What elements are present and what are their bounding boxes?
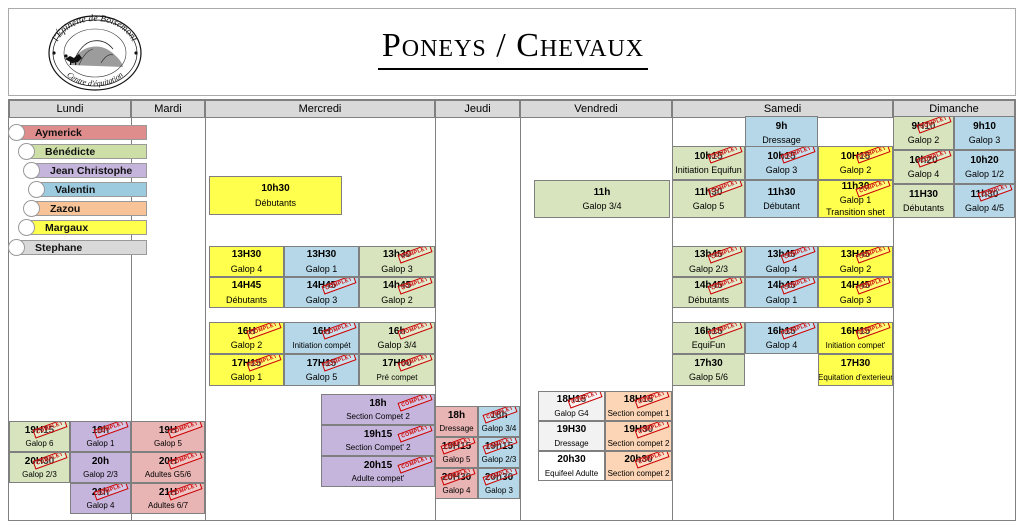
course-description: Galop 4 [86,501,114,510]
course-time: 14h45 [383,280,411,292]
day-header-jeudi: Jeudi [435,100,520,118]
course-description: Galop 3 [306,295,338,305]
course-description-2: Transition shet [826,207,885,217]
legend-item-label: Aymerick [35,127,82,139]
course-time: 14h45 [694,280,722,292]
complet-stamp: COMPLET [397,394,432,412]
course-cell[interactable]: 18H15Section compet 1COMPLET [605,391,672,421]
legend-item-0[interactable]: Aymerick [12,125,147,140]
course-description: Adulte compet' [352,474,405,483]
course-time: 18H15 [557,394,586,406]
course-time: 20h15 [364,460,392,472]
legend-bullet-icon-4 [23,200,40,217]
course-time: 20h [92,456,109,468]
legend-item-label: Valentin [55,184,95,196]
course-description: Galop 3/4 [582,201,621,211]
day-header-mardi: Mardi [131,100,205,118]
course-time: 9h10 [973,121,996,133]
column-separator [205,118,206,521]
course-time: 13h30 [383,249,411,261]
course-description: Initiation Equifun [675,165,742,175]
course-time: 11h30 [695,187,723,199]
page-header: l'Épinette de Boisemont Centre d'équitat… [8,8,1016,96]
course-time: 13h45 [767,249,795,261]
course-time: 10h20 [970,155,998,167]
course-cell[interactable]: 11h30Galop 1Transition shetCOMPLET [818,180,893,218]
day-header-mercredi: Mercredi [205,100,435,118]
course-time: 17H15 [307,358,336,370]
course-time: 21h [92,487,109,499]
course-description: Section Compet 2 [346,412,410,421]
course-cell[interactable]: 18H15Galop G4COMPLET [538,391,605,421]
course-cell[interactable]: 14H45Débutants [209,277,284,308]
course-cell[interactable]: 13H30Galop 4 [209,246,284,277]
day-header-vendredi: Vendredi [520,100,672,118]
course-time: 9H10 [912,121,936,133]
course-time: 19h15 [364,429,392,441]
course-time: 16H [312,326,330,338]
course-description: Galop 4 [766,340,798,350]
course-cell[interactable]: 11H30Débutants [893,184,954,218]
course-description: Galop 1 [766,295,798,305]
legend-item-label: Jean Christophe [50,165,132,177]
course-description: Galop 3 [969,135,1001,145]
course-time: 16h15 [767,326,795,338]
course-cell[interactable]: 10h15Initiation EquifunCOMPLET [672,146,745,180]
course-description: Galop 3 [485,486,513,495]
course-time: 16h15 [694,326,722,338]
course-description: Galop 1 [306,264,338,274]
course-cell[interactable]: 14H45Galop 3COMPLET [818,277,893,308]
course-time: 20H30 [442,472,471,484]
course-cell[interactable]: 14h45DébutantsCOMPLET [672,277,745,308]
course-description: Section compet 2 [608,439,670,448]
day-header-lundi: Lundi [9,100,131,118]
course-description: Débutants [255,198,296,208]
course-cell[interactable]: 13H45Galop 2COMPLET [818,246,893,277]
page-title-text: Poneys / Chevaux [378,27,648,70]
legend-bullet-icon-1 [18,143,35,160]
course-description: EquiFun [692,340,726,350]
legend-bullet-icon-0 [8,124,25,141]
course-description: Galop G4 [554,409,588,418]
day-header-label: Samedi [764,103,801,115]
column-separator [520,118,521,521]
course-cell[interactable]: 17H00Pré competCOMPLET [359,354,435,386]
course-time: 19H30 [557,424,586,436]
course-description: Galop 2/3 [482,455,517,464]
course-time: 18h [448,410,465,422]
course-time: 13h45 [694,249,722,261]
course-cell[interactable]: 10H15Galop 2COMPLET [818,146,893,180]
course-cell[interactable]: 10h20Galop 1/2 [954,150,1015,184]
course-time: 11H30 [909,189,938,201]
course-cell[interactable]: 16HGalop 2COMPLET [209,322,284,354]
course-description: Galop 3/4 [482,424,517,433]
course-cell[interactable]: 20h15Adulte compet'COMPLET [321,456,435,487]
course-cell[interactable]: 20h30Galop 3COMPLET [478,468,520,499]
course-time: 9h [776,121,788,133]
course-time: 20h30 [485,472,513,484]
course-description: Galop 4 [442,486,470,495]
course-time: 10h15 [694,151,722,163]
page-title: Poneys / Chevaux [9,27,1017,65]
course-description: Section Compet' 2 [345,443,410,452]
course-time: 19h [92,425,109,437]
course-time: 13H30 [232,249,261,261]
course-cell[interactable]: 18hGalop 3/4COMPLET [478,406,520,437]
legend-item-2[interactable]: Jean Christophe [27,163,147,178]
course-cell[interactable]: 9H10Galop 2COMPLET [893,116,954,150]
day-header-label: Mercredi [299,103,342,115]
course-description: Galop 6 [25,439,53,448]
course-description: Galop 1 [840,195,872,205]
course-time: 11h30 [768,187,796,199]
course-time: 18H15 [624,394,653,406]
course-cell[interactable]: 19h15Section Compet' 2COMPLET [321,425,435,456]
course-time: 21H [159,487,177,499]
course-time: 20h30 [557,454,585,466]
course-cell[interactable]: 9h10Galop 3 [954,116,1015,150]
day-header-label: Dimanche [929,103,979,115]
legend-item-3[interactable]: Valentin [32,182,147,197]
legend-item-4[interactable]: Zazou [27,201,147,216]
course-cell[interactable]: 16hGalop 3/4COMPLET [359,322,435,354]
course-description: Galop 5 [693,201,725,211]
course-description: Initiation compét [292,341,350,350]
day-header-label: Jeudi [464,103,490,115]
course-cell[interactable]: 18hDressage [435,406,478,437]
course-time: 17H15 [232,358,261,370]
course-description: Adultes 6/7 [148,501,188,510]
course-time: 13H45 [841,249,870,261]
course-time: 13H30 [307,249,336,261]
course-description: Galop 1 [86,439,114,448]
legend-bullet-icon-3 [28,181,45,198]
legend-item-label: Margaux [45,222,88,234]
course-cell[interactable]: 19HGalop 5COMPLET [131,421,205,452]
course-cell[interactable]: 17H30Equitation d'exterieur [818,354,893,386]
course-cell[interactable]: 11h30Débutant [745,180,818,218]
legend-item-label: Stephane [35,242,82,254]
course-time: 10h15 [767,151,795,163]
course-description: Adultes G5/6 [145,470,191,479]
course-description: Galop 2/3 [689,264,728,274]
course-time: 19H [159,425,177,437]
course-cell[interactable]: 19h15Galop 2/3COMPLET [478,437,520,468]
course-cell[interactable]: 16h15Galop 4COMPLET [745,322,818,354]
course-time: 18h [490,410,507,422]
course-description: Galop 1 [231,372,263,382]
course-description: Dressage [554,439,588,448]
course-cell[interactable]: 11hGalop 3/4 [534,180,670,218]
course-time: 16H [237,326,255,338]
course-time: 14H45 [232,280,261,292]
course-description: Galop 4/5 [965,203,1004,213]
course-cell[interactable]: 13h45Galop 4COMPLET [745,246,818,277]
course-cell[interactable]: 19H30Section compet 2COMPLET [605,421,672,451]
course-description: Galop 2 [381,295,413,305]
legend-item-label: Zazou [50,203,80,215]
course-description: Galop 4 [766,264,798,274]
course-time: 17H30 [841,358,870,370]
course-cell[interactable]: 20h30Equifeel Adulte [538,451,605,481]
course-cell[interactable]: 13h45Galop 2/3COMPLET [672,246,745,277]
course-description: Galop 2 [908,135,940,145]
course-description: Galop 5 [154,439,182,448]
legend-item-label: Bénédicte [45,146,95,158]
course-description: Débutant [763,201,800,211]
course-time: 11h30 [842,181,870,193]
course-cell[interactable]: 13h30Galop 3COMPLET [359,246,435,277]
day-header-label: Vendredi [574,103,617,115]
course-description: Equifeel Adulte [545,469,598,478]
course-cell[interactable]: 14h45Galop 2COMPLET [359,277,435,308]
course-time: 19H15 [25,425,54,437]
course-time: 10H15 [841,151,870,163]
course-time: 18h [369,398,386,410]
course-cell[interactable]: 18hSection Compet 2COMPLET [321,394,435,425]
course-description: Dressage [762,135,801,145]
course-cell[interactable]: 17H15Galop 1COMPLET [209,354,284,386]
course-cell[interactable]: 19H15Galop 5COMPLET [435,437,478,468]
legend-bullet-icon-2 [23,162,40,179]
course-cell[interactable]: 20H30Galop 4COMPLET [435,468,478,499]
course-cell[interactable]: 16H15Initiation compet'COMPLET [818,322,893,354]
course-time: 17H00 [382,358,411,370]
course-description: Dressage [439,424,473,433]
course-description: Section compet 2 [608,469,670,478]
course-cell[interactable]: 19hGalop 1COMPLET [70,421,131,452]
course-description: Galop 2 [840,264,872,274]
course-cell[interactable]: 20h30Section compet 2COMPLET [605,451,672,481]
course-time: 10h30 [261,183,289,195]
course-time: 19H15 [442,441,471,453]
legend-item-5[interactable]: Margaux [22,220,147,235]
course-time: 14H45 [307,280,336,292]
course-time: 20h30 [624,454,652,466]
course-cell[interactable]: 19H30Dressage [538,421,605,451]
course-cell[interactable]: 10h20Galop 4COMPLET [893,150,954,184]
course-time: 16H15 [841,326,870,338]
legend-bullet-icon-5 [18,219,35,236]
course-cell[interactable]: 17H15Galop 5COMPLET [284,354,359,386]
course-cell[interactable]: 9hDressage [745,116,818,150]
course-description: Initiation compet' [826,341,886,350]
course-cell[interactable]: 20HAdultes G5/6COMPLET [131,452,205,483]
course-time: 11h [594,187,611,199]
course-description: Galop 4 [231,264,263,274]
course-description: Galop 3 [840,295,872,305]
course-description: Pré compet [377,373,418,382]
course-description: Galop 4 [908,169,940,179]
svg-text:Centre d'équitation: Centre d'équitation [65,70,124,88]
course-description: Débutants [688,295,729,305]
legend-item-6[interactable]: Stephane [12,240,147,255]
course-time: 17h30 [694,358,722,370]
course-cell[interactable]: 10h15Galop 3COMPLET [745,146,818,180]
course-description: Galop 2 [231,340,263,350]
complet-stamp: COMPLET [397,456,432,474]
course-cell[interactable]: 16HInitiation compétCOMPLET [284,322,359,354]
course-description: Galop 2/3 [83,470,118,479]
course-cell[interactable]: 20H30Galop 2/3COMPLET [9,452,70,483]
course-cell[interactable]: 20hGalop 2/3 [70,452,131,483]
course-cell[interactable]: 17h30Galop 5/6 [672,354,745,386]
complet-stamp: COMPLET [397,425,432,443]
course-description: Galop 3 [381,264,413,274]
course-description: Equitation d'exterieur [818,373,893,382]
course-description: Débutants [226,295,267,305]
day-header-label: Mardi [154,103,182,115]
course-description: Galop 5/6 [689,372,728,382]
course-cell[interactable]: 13H30Galop 1 [284,246,359,277]
course-cell[interactable]: 10h30Débutants [209,176,342,215]
legend-bullet-icon-6 [8,239,25,256]
course-description: Galop 2/3 [22,470,57,479]
course-time: 19H30 [624,424,653,436]
day-header-label: Lundi [57,103,84,115]
course-time: 19h15 [485,441,513,453]
course-time: 14H45 [841,280,870,292]
course-time: 16h [388,326,405,338]
course-cell[interactable]: 11h30Galop 4/5COMPLET [954,184,1015,218]
course-cell[interactable]: 16h15EquiFunCOMPLET [672,322,745,354]
course-description: Galop 1/2 [965,169,1004,179]
course-time: 10h20 [909,155,937,167]
course-cell[interactable]: 19H15Galop 6COMPLET [9,421,70,452]
course-time: 14h45 [767,280,795,292]
course-cell[interactable]: 21HAdultes 6/7COMPLET [131,483,205,514]
course-description: Galop 5 [442,455,470,464]
course-time: 20H [159,456,177,468]
course-description: Section compet 1 [608,409,670,418]
course-cell[interactable]: 11h30Galop 5COMPLET [672,180,745,218]
schedule-page: l'Épinette de Boisemont Centre d'équitat… [0,0,1024,528]
course-cell[interactable]: 14h45Galop 1COMPLET [745,277,818,308]
course-cell[interactable]: 21hGalop 4COMPLET [70,483,131,514]
course-description: Galop 3/4 [377,340,416,350]
course-description: Débutants [903,203,944,213]
course-description: Galop 3 [766,165,798,175]
course-cell[interactable]: 14H45Galop 3COMPLET [284,277,359,308]
course-description: Galop 2 [840,165,872,175]
course-time: 20H30 [25,456,54,468]
legend-item-1[interactable]: Bénédicte [22,144,147,159]
course-description: Galop 5 [306,372,338,382]
course-time: 11h30 [971,189,999,201]
